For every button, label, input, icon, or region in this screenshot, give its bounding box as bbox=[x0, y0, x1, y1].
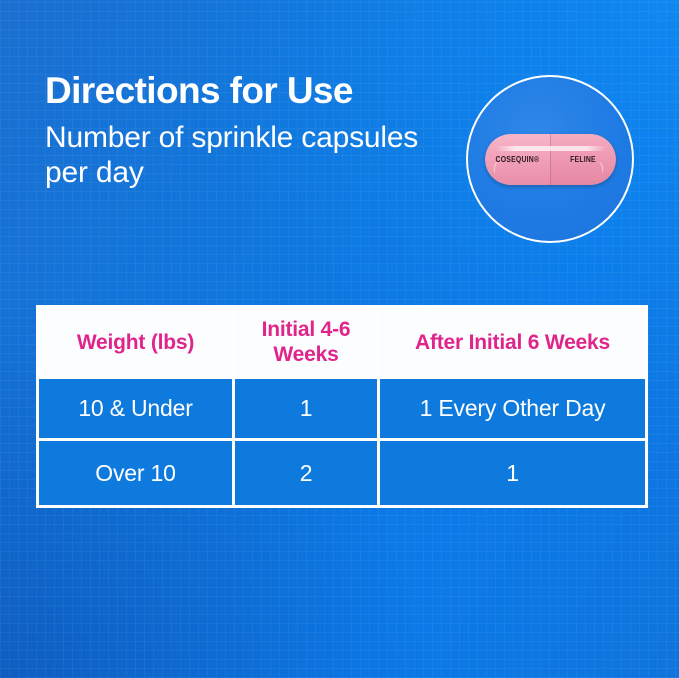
dosage-table-body: 10 & Under 1 1 Every Other Day Over 10 2… bbox=[36, 379, 648, 508]
capsule-brand-label: COSEQUIN® bbox=[495, 155, 539, 164]
cell-after-row-2: 1 bbox=[377, 441, 648, 508]
page-subtitle: Number of sprinkle capsules per day bbox=[45, 120, 445, 190]
table-row: Over 10 2 1 bbox=[36, 441, 648, 508]
column-header-weight: Weight (lbs) bbox=[36, 305, 232, 379]
table-header-row: Weight (lbs) Initial 4-6 Weeks After Ini… bbox=[36, 305, 648, 379]
directions-for-use-panel: Directions for Use Number of sprinkle ca… bbox=[0, 0, 679, 678]
capsule-cap-half: COSEQUIN® bbox=[485, 134, 551, 185]
cell-weight-row-1: 10 & Under bbox=[36, 379, 232, 441]
column-header-after-initial-weeks: After Initial 6 Weeks bbox=[377, 305, 648, 379]
table-row: 10 & Under 1 1 Every Other Day bbox=[36, 379, 648, 441]
cell-weight-row-2: Over 10 bbox=[36, 441, 232, 508]
capsule-body-half: FELINE bbox=[550, 134, 616, 185]
heading-block: Directions for Use Number of sprinkle ca… bbox=[45, 71, 445, 190]
cell-after-row-1: 1 Every Other Day bbox=[377, 379, 648, 441]
capsule-species-label: FELINE bbox=[570, 155, 596, 164]
capsule-icon: COSEQUIN® FELINE bbox=[485, 134, 616, 185]
cell-initial-row-1: 1 bbox=[232, 379, 377, 441]
dosage-table-header: Weight (lbs) Initial 4-6 Weeks After Ini… bbox=[36, 305, 648, 379]
product-badge-circle: COSEQUIN® FELINE bbox=[466, 75, 634, 243]
dosage-table: Weight (lbs) Initial 4-6 Weeks After Ini… bbox=[36, 305, 648, 508]
column-header-initial-weeks: Initial 4-6 Weeks bbox=[232, 305, 377, 379]
page-title: Directions for Use bbox=[45, 71, 445, 111]
cell-initial-row-2: 2 bbox=[232, 441, 377, 508]
